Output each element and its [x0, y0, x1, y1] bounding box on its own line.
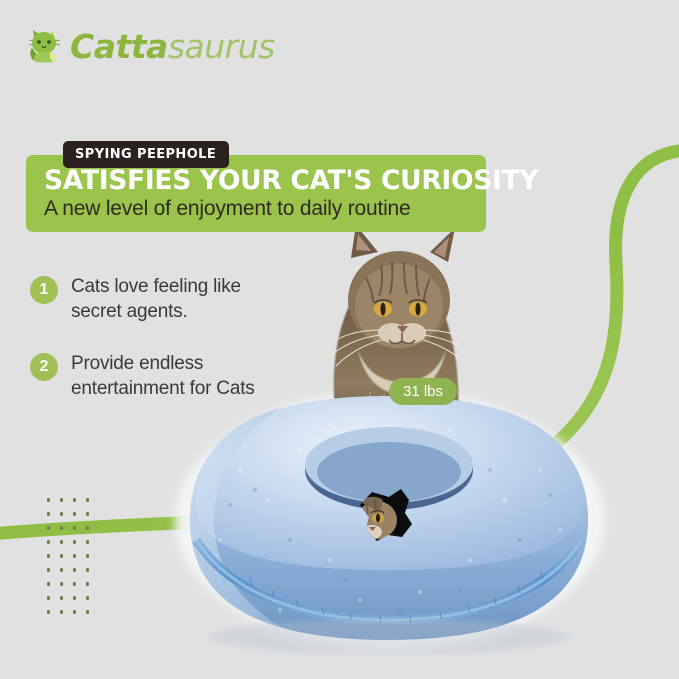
brand-name-bold: Catta [70, 27, 168, 66]
feature-text: Provide endless entertainment for Cats [71, 351, 295, 402]
brand-name: Cattasaurus [70, 30, 275, 63]
headline-subtitle: A new level of enjoyment to daily routin… [44, 197, 486, 221]
feature-number-badge: 1 [30, 276, 58, 304]
list-item: 2 Provide endless entertainment for Cats [30, 351, 295, 402]
feature-text: Cats love feeling like secret agents. [71, 274, 295, 325]
cat-dinosaur-mascot-icon [28, 28, 62, 64]
feature-list: 1 Cats love feeling like secret agents. … [30, 274, 295, 427]
feature-tag-badge: SPYING PEEPHOLE [63, 141, 229, 168]
brand-logo[interactable]: Cattasaurus [28, 28, 275, 64]
brand-name-light: saurus [168, 27, 275, 66]
headline-title: SATISFIES YOUR CAT'S CURIOSITY [44, 167, 486, 195]
list-item: 1 Cats love feeling like secret agents. [30, 274, 295, 325]
feature-number-badge: 2 [30, 353, 58, 381]
weight-badge: 31 lbs [389, 378, 457, 405]
